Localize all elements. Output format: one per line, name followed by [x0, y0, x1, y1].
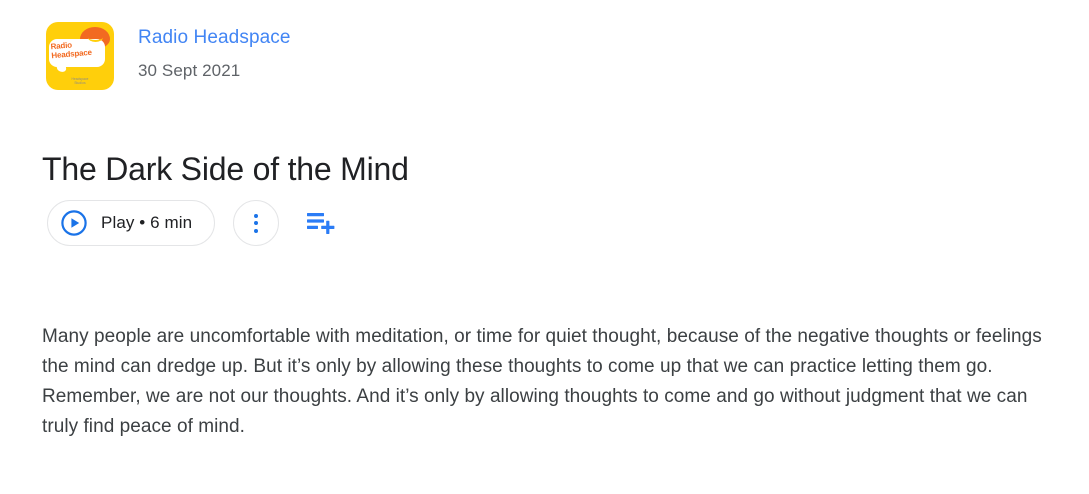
show-name-link[interactable]: Radio Headspace — [138, 26, 291, 50]
show-meta: Radio Headspace 30 Sept 2021 — [138, 22, 291, 82]
episode-title: The Dark Side of the Mind — [42, 149, 409, 189]
more-options-button[interactable] — [233, 200, 279, 246]
episode-description: Many people are uncomfortable with medit… — [42, 322, 1042, 442]
play-circle-icon — [61, 210, 87, 236]
action-row: Play • 6 min — [47, 200, 341, 246]
publish-date: 30 Sept 2021 — [138, 60, 291, 82]
playlist-add-icon — [307, 212, 335, 234]
episode-page: Radio Headspace Headspace Studios Radio … — [0, 0, 1089, 494]
radio-headspace-artwork[interactable]: Radio Headspace Headspace Studios — [46, 22, 114, 90]
play-button-label: Play • 6 min — [101, 213, 192, 233]
play-button[interactable]: Play • 6 min — [47, 200, 215, 246]
more-vertical-icon — [254, 214, 258, 233]
artwork-subtitle-text: Headspace Studios — [66, 77, 94, 85]
show-header: Radio Headspace Headspace Studios Radio … — [46, 22, 291, 90]
add-to-queue-button[interactable] — [301, 203, 341, 243]
